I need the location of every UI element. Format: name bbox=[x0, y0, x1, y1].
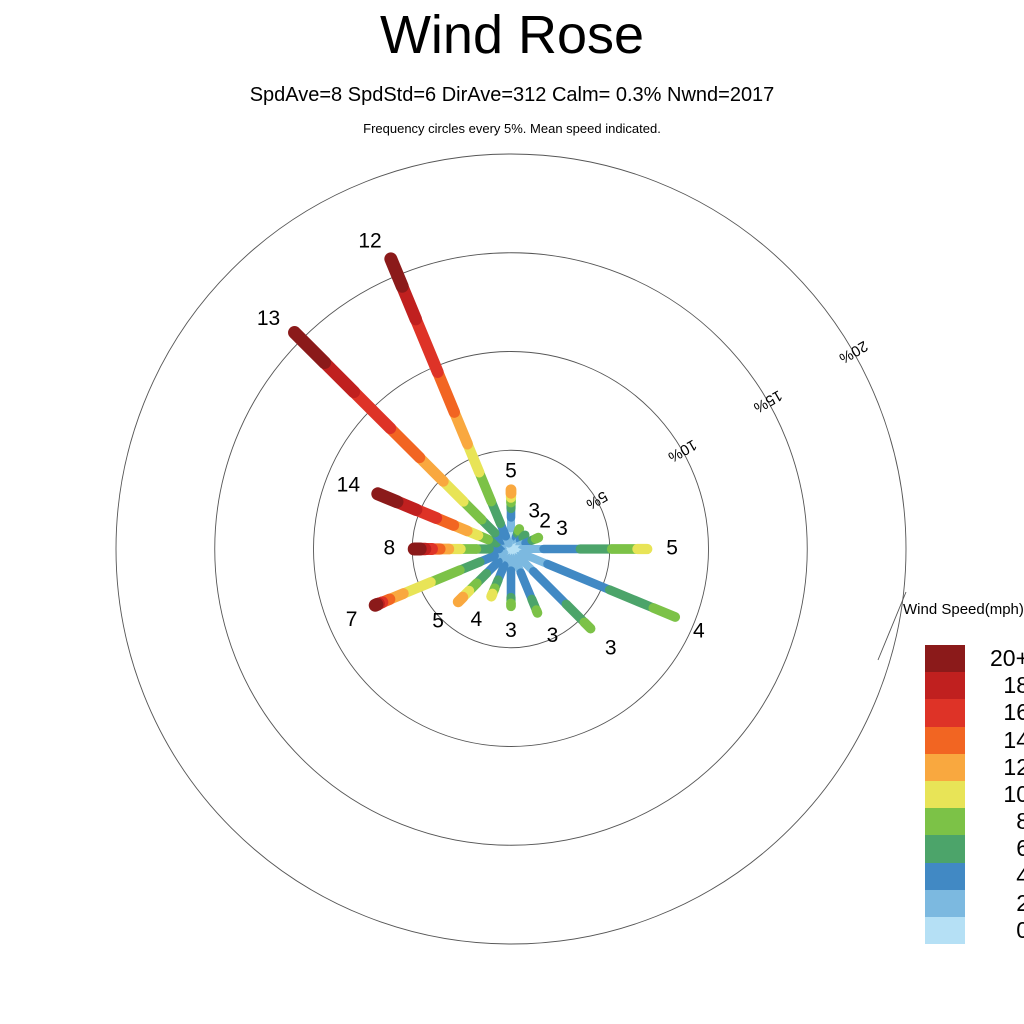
legend-item[interactable]: 2 bbox=[925, 890, 1024, 917]
legend-item[interactable]: 20+ bbox=[925, 645, 1024, 672]
petal-segment bbox=[491, 594, 492, 597]
petal-segment bbox=[378, 494, 397, 502]
radial-tick-label: 20% bbox=[836, 337, 871, 367]
petal-segment bbox=[391, 259, 402, 286]
petal-segment bbox=[533, 571, 566, 604]
petal-mean-speed-label: 14 bbox=[337, 473, 361, 496]
petal-mean-speed-label: 4 bbox=[693, 620, 705, 643]
legend-item[interactable]: 14 bbox=[925, 727, 1024, 754]
radial-tick-label: 15% bbox=[751, 386, 786, 416]
petal-mean-speed-label: 13 bbox=[257, 307, 280, 330]
petal-mean-speed-label: 5 bbox=[505, 459, 517, 482]
legend-item[interactable]: 16 bbox=[925, 699, 1024, 726]
legend-label: 0 bbox=[967, 917, 1024, 944]
legend-leader-line bbox=[878, 592, 906, 660]
legend-label: 14 bbox=[967, 727, 1024, 754]
petal-mean-speed-label: 12 bbox=[358, 230, 381, 253]
petal-mean-speed-label: 3 bbox=[505, 619, 517, 642]
legend-label: 8 bbox=[967, 808, 1024, 835]
petal-segment bbox=[375, 605, 377, 606]
petal-segment bbox=[536, 610, 537, 613]
legend-swatch bbox=[925, 781, 965, 808]
petal-mean-speed-label: 2 bbox=[539, 509, 551, 532]
legend-title: Wind Speed(mph) bbox=[903, 601, 1024, 618]
petal-segment bbox=[458, 597, 463, 602]
petal-mean-speed-label: 5 bbox=[666, 537, 678, 560]
petal-segment bbox=[438, 372, 455, 412]
legend-label: 10 bbox=[967, 781, 1024, 808]
petal-mean-speed-label: 3 bbox=[605, 636, 617, 659]
petal-segment bbox=[653, 608, 675, 617]
legend: 20+181614121086420 bbox=[925, 645, 1024, 944]
legend-item[interactable]: 10 bbox=[925, 781, 1024, 808]
legend-label: 6 bbox=[967, 835, 1024, 862]
petal-segment bbox=[295, 333, 325, 363]
legend-swatch bbox=[925, 863, 965, 890]
petal-segment bbox=[584, 622, 590, 628]
legend-item[interactable]: 12 bbox=[925, 754, 1024, 781]
petal-mean-speed-label: 8 bbox=[384, 537, 396, 560]
legend-label: 18 bbox=[967, 672, 1024, 699]
legend-swatch bbox=[925, 754, 965, 781]
legend-swatch bbox=[925, 808, 965, 835]
legend-swatch bbox=[925, 645, 965, 672]
legend-item[interactable]: 8 bbox=[925, 808, 1024, 835]
petal-segment bbox=[416, 319, 438, 372]
petal-segment bbox=[547, 564, 609, 590]
wind-rose-chart: 5%10%15%20% 5323543334578141312 bbox=[0, 0, 1024, 1024]
legend-swatch bbox=[925, 699, 965, 726]
legend-leader-line bbox=[878, 592, 906, 660]
legend-swatch bbox=[925, 727, 965, 754]
petal-mean-speed-label: 7 bbox=[346, 608, 358, 631]
legend-item[interactable]: 4 bbox=[925, 863, 1024, 890]
petal-nw bbox=[295, 333, 511, 549]
legend-label: 2 bbox=[967, 890, 1024, 917]
legend-label: 16 bbox=[967, 699, 1024, 726]
petal-mean-speed-label: 5 bbox=[432, 610, 444, 633]
petal-layer bbox=[295, 259, 676, 629]
petal-segment bbox=[523, 535, 525, 537]
legend-item[interactable]: 0 bbox=[925, 917, 1024, 944]
legend-swatch bbox=[925, 890, 965, 917]
petal-mean-speed-label: 3 bbox=[547, 624, 559, 647]
legend-swatch bbox=[925, 835, 965, 862]
legend-swatch bbox=[925, 917, 965, 944]
legend-swatch bbox=[925, 672, 965, 699]
legend-item[interactable]: 18 bbox=[925, 672, 1024, 699]
petal-mean-speed-labels: 5323543334578141312 bbox=[257, 230, 705, 660]
legend-label: 4 bbox=[967, 863, 1024, 890]
legend-item[interactable]: 6 bbox=[925, 835, 1024, 862]
petal-mean-speed-label: 3 bbox=[556, 517, 568, 540]
radial-tick-label: 10% bbox=[665, 436, 700, 466]
petal-segment bbox=[519, 529, 520, 531]
petal-segment bbox=[610, 590, 654, 608]
radial-tick-label: 5% bbox=[583, 487, 610, 513]
legend-label: 20+ bbox=[967, 645, 1024, 672]
legend-label: 12 bbox=[967, 754, 1024, 781]
petal-segment bbox=[390, 428, 419, 457]
petal-mean-speed-label: 4 bbox=[471, 608, 483, 631]
radial-tick-labels: 5%10%15%20% bbox=[583, 337, 870, 513]
petal-segment bbox=[536, 538, 539, 539]
